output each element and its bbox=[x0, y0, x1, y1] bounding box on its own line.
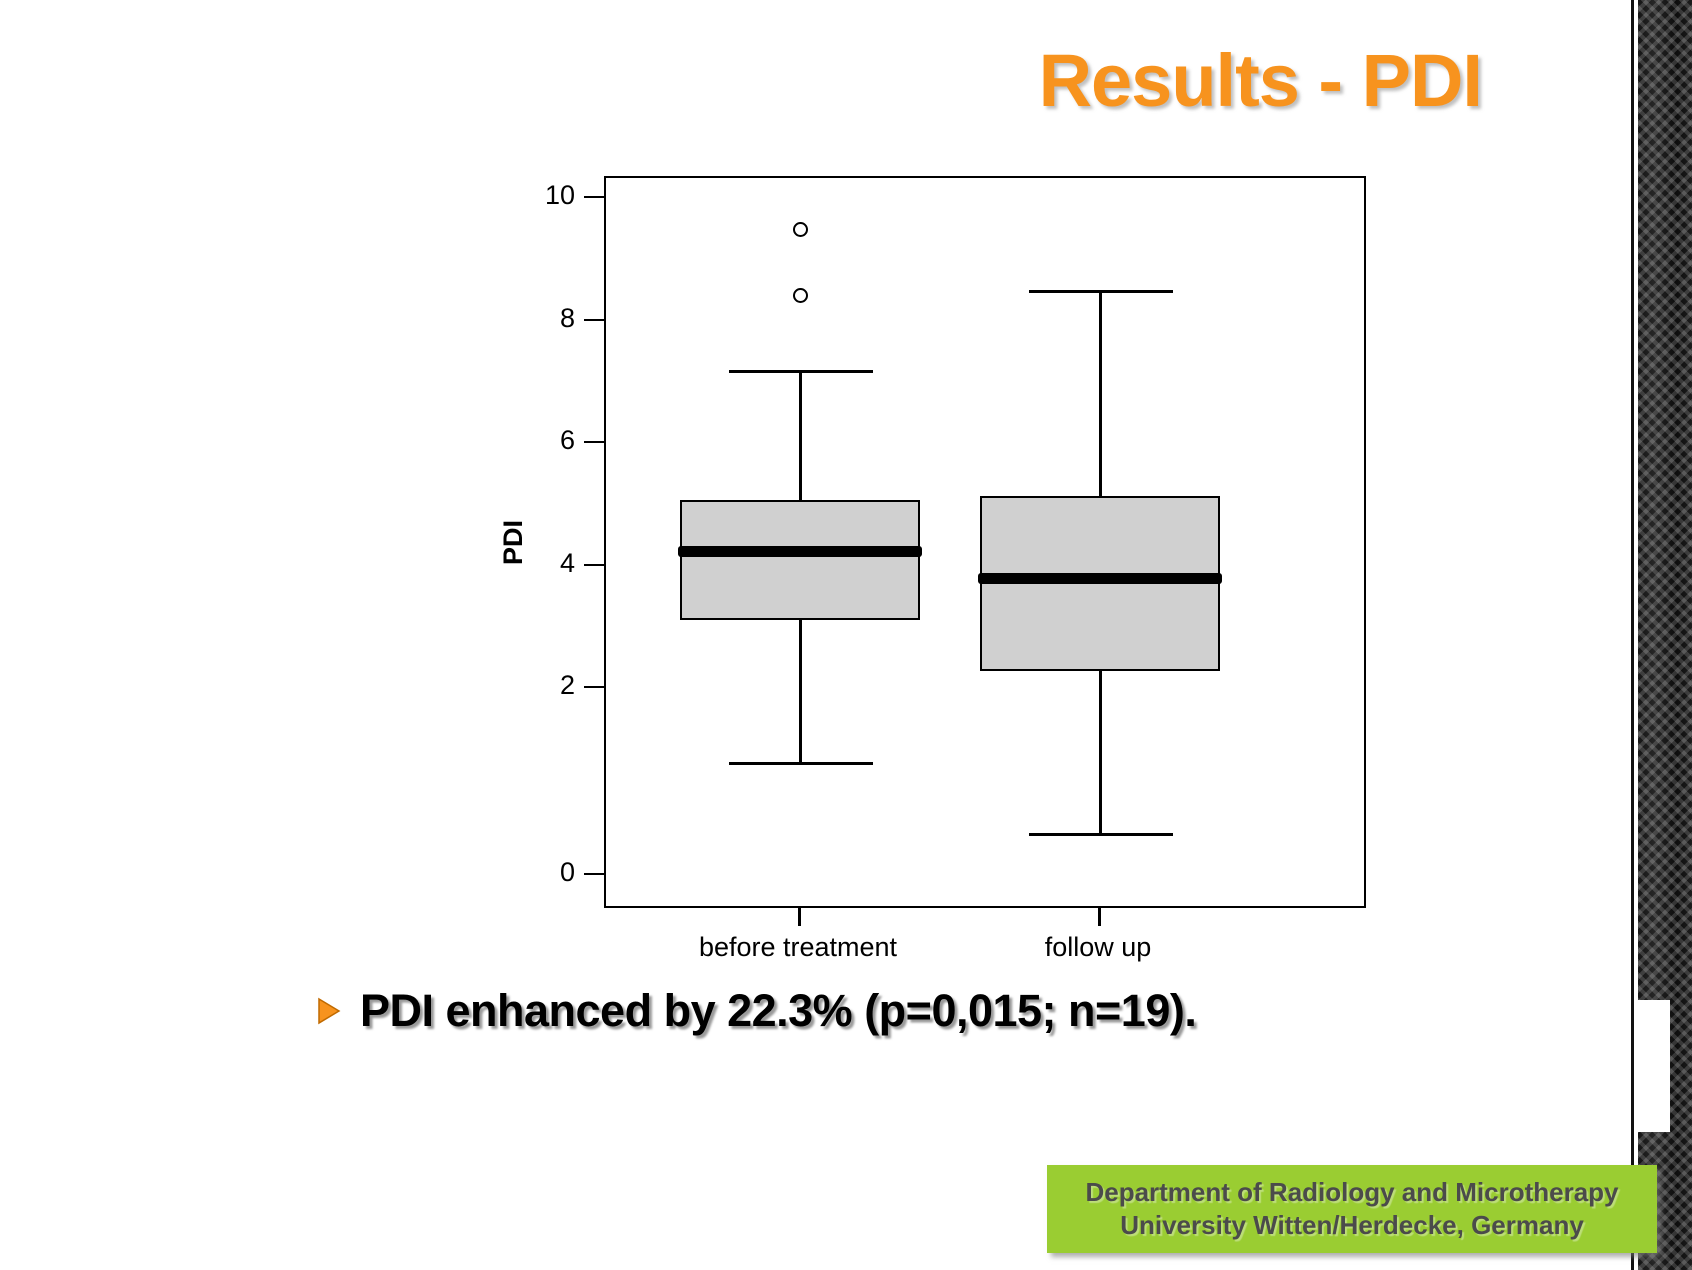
whisker-cap-lower bbox=[729, 762, 873, 765]
y-tick-label-0: 0 bbox=[495, 859, 575, 886]
slide: Results - PDI PDI 10 8 6 4 2 0 bbox=[0, 0, 1692, 1270]
whisker-line-upper bbox=[1099, 290, 1102, 498]
arrow-bullet-icon bbox=[316, 996, 342, 1026]
whisker-line-lower bbox=[799, 620, 802, 763]
y-tick-label-6: 6 bbox=[495, 427, 575, 454]
y-tick-label-4: 4 bbox=[495, 550, 575, 577]
whisker-line-upper bbox=[799, 370, 802, 501]
bullet-row: PDI enhanced by 22.3% (p=0,015; n=19). bbox=[316, 985, 1196, 1037]
bullet-text: PDI enhanced by 22.3% (p=0,015; n=19). bbox=[360, 985, 1196, 1037]
whisker-cap-lower bbox=[1029, 833, 1173, 836]
decorative-notch bbox=[1634, 1000, 1670, 1132]
box-before-treatment bbox=[680, 500, 920, 620]
x-tick-label-before-treatment: before treatment bbox=[648, 932, 948, 963]
median-line-before-treatment bbox=[678, 546, 922, 557]
outlier-point bbox=[793, 288, 808, 303]
y-tick-label-10: 10 bbox=[495, 182, 575, 209]
y-tick-mark bbox=[584, 196, 606, 198]
median-line-follow-up bbox=[978, 573, 1222, 584]
footer-line-2: University Witten/Herdecke, Germany bbox=[1120, 1209, 1584, 1242]
y-tick-mark bbox=[584, 441, 606, 443]
y-tick-mark bbox=[584, 873, 606, 875]
footer-line-1: Department of Radiology and Microtherapy bbox=[1085, 1176, 1618, 1209]
y-tick-label-2: 2 bbox=[495, 672, 575, 699]
boxplot-chart: PDI 10 8 6 4 2 0 bbox=[0, 0, 1400, 980]
y-tick-mark bbox=[584, 319, 606, 321]
x-tick-mark bbox=[798, 908, 801, 926]
x-tick-mark bbox=[1098, 908, 1101, 926]
footer-affiliation-box: Department of Radiology and Microtherapy… bbox=[1047, 1165, 1657, 1253]
outlier-point bbox=[793, 222, 808, 237]
y-tick-mark bbox=[584, 564, 606, 566]
y-tick-label-8: 8 bbox=[495, 305, 575, 332]
y-tick-mark bbox=[584, 686, 606, 688]
whisker-line-lower bbox=[1099, 671, 1102, 835]
x-tick-label-follow-up: follow up bbox=[948, 932, 1248, 963]
